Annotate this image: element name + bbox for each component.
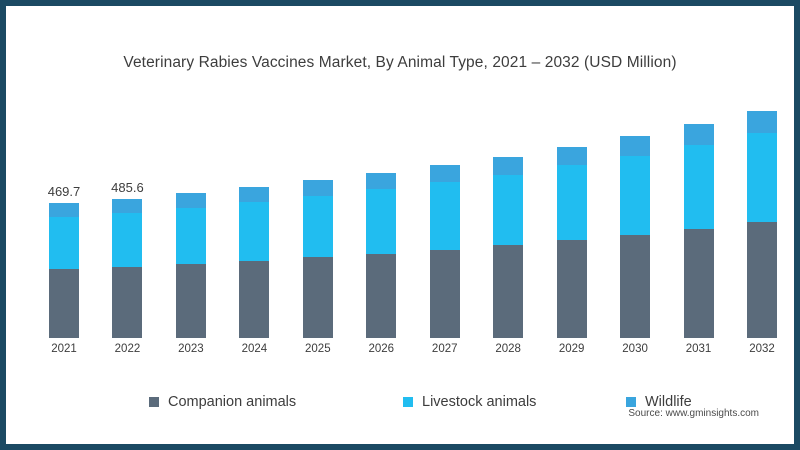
bar-segment-livestock-animals [366, 189, 396, 253]
bar-segment-wildlife [747, 111, 777, 133]
bar-segment-livestock-animals [747, 133, 777, 222]
stacked-bar[interactable]: 469.7 [49, 203, 79, 338]
bar-group: 485.6 [112, 199, 142, 338]
bar-segment-wildlife [430, 165, 460, 182]
legend-item-livestock-animals[interactable]: Livestock animals [403, 391, 536, 413]
bar-segment-companion-animals [620, 235, 650, 338]
legend-item-companion-animals[interactable]: Companion animals [149, 391, 296, 413]
bar-segment-wildlife [493, 157, 523, 175]
bar-group [747, 111, 777, 338]
x-axis-tick-label: 2030 [612, 343, 658, 355]
x-axis-tick-label: 2031 [676, 343, 722, 355]
bar-segment-wildlife [49, 203, 79, 216]
x-axis-tick-label: 2025 [295, 343, 341, 355]
stacked-bar[interactable] [684, 124, 714, 338]
bar-segment-companion-animals [239, 261, 269, 338]
bar-group [557, 147, 587, 338]
bar-group [366, 173, 396, 338]
bar-segment-livestock-animals [176, 208, 206, 264]
bar-group [620, 136, 650, 338]
x-axis-tick-label: 2021 [41, 343, 87, 355]
source-note: Source: www.gminsights.com [628, 408, 759, 419]
bar-segment-companion-animals [493, 245, 523, 338]
bar-group [430, 165, 460, 338]
bar-segment-companion-animals [366, 254, 396, 338]
bar-segment-wildlife [303, 180, 333, 195]
bar-segment-wildlife [112, 199, 142, 213]
bar-group [684, 124, 714, 338]
bar-segment-wildlife [366, 173, 396, 189]
chart-canvas: Veterinary Rabies Vaccines Market, By An… [12, 12, 788, 438]
bar-segment-companion-animals [557, 240, 587, 338]
bar-segment-companion-animals [430, 250, 460, 338]
bar-segment-companion-animals [303, 257, 333, 338]
bar-segment-companion-animals [112, 267, 142, 338]
bar-segment-livestock-animals [430, 182, 460, 250]
stacked-bar[interactable] [747, 111, 777, 338]
stacked-bar[interactable] [557, 147, 587, 338]
bar-segment-wildlife [176, 193, 206, 207]
bar-segment-livestock-animals [49, 217, 79, 269]
x-axis-tick-label: 2024 [231, 343, 277, 355]
stacked-bar[interactable] [430, 165, 460, 338]
bar-segment-livestock-animals [557, 165, 587, 240]
legend-swatch-icon [149, 397, 159, 407]
stacked-bar[interactable] [493, 157, 523, 338]
bar-group [239, 187, 269, 338]
x-axis-tick-label: 2023 [168, 343, 214, 355]
bar-segment-livestock-animals [239, 202, 269, 261]
bar-group [303, 180, 333, 338]
stacked-bar[interactable] [239, 187, 269, 338]
bar-segment-companion-animals [49, 269, 79, 338]
chart-frame: Veterinary Rabies Vaccines Market, By An… [0, 0, 800, 450]
bar-group [493, 157, 523, 338]
stacked-bar[interactable] [366, 173, 396, 338]
bar-segment-wildlife [684, 124, 714, 145]
legend-swatch-icon [403, 397, 413, 407]
chart-title: Veterinary Rabies Vaccines Market, By An… [13, 54, 787, 72]
bar-segment-livestock-animals [493, 175, 523, 246]
bar-segment-wildlife [620, 136, 650, 156]
x-axis: 2021202220232024202520262027202820292030… [49, 343, 777, 363]
legend-label: Livestock animals [422, 394, 536, 410]
bar-segment-wildlife [239, 187, 269, 202]
bar-segment-companion-animals [176, 264, 206, 338]
bar-value-label: 469.7 [48, 184, 81, 199]
bar-segment-companion-animals [684, 229, 714, 338]
bar-segment-companion-animals [747, 222, 777, 338]
bar-segment-wildlife [557, 147, 587, 166]
bar-segment-livestock-animals [620, 156, 650, 235]
bar-segment-livestock-animals [112, 213, 142, 267]
bar-segment-livestock-animals [684, 145, 714, 229]
bar-group: 469.7 [49, 203, 79, 338]
x-axis-tick-label: 2032 [739, 343, 785, 355]
stacked-bar[interactable] [620, 136, 650, 338]
x-axis-tick-label: 2026 [358, 343, 404, 355]
stacked-bar[interactable] [176, 193, 206, 338]
legend-label: Companion animals [168, 394, 296, 410]
stacked-bar[interactable]: 485.6 [112, 199, 142, 338]
x-axis-tick-label: 2027 [422, 343, 468, 355]
legend-swatch-icon [626, 397, 636, 407]
x-axis-tick-label: 2022 [104, 343, 150, 355]
stacked-bar[interactable] [303, 180, 333, 338]
bar-segment-livestock-animals [303, 196, 333, 258]
bar-value-label: 485.6 [111, 180, 144, 195]
x-axis-tick-label: 2029 [549, 343, 595, 355]
plot-area: 469.7485.6 [49, 93, 777, 338]
x-axis-tick-label: 2028 [485, 343, 531, 355]
bar-group [176, 193, 206, 338]
